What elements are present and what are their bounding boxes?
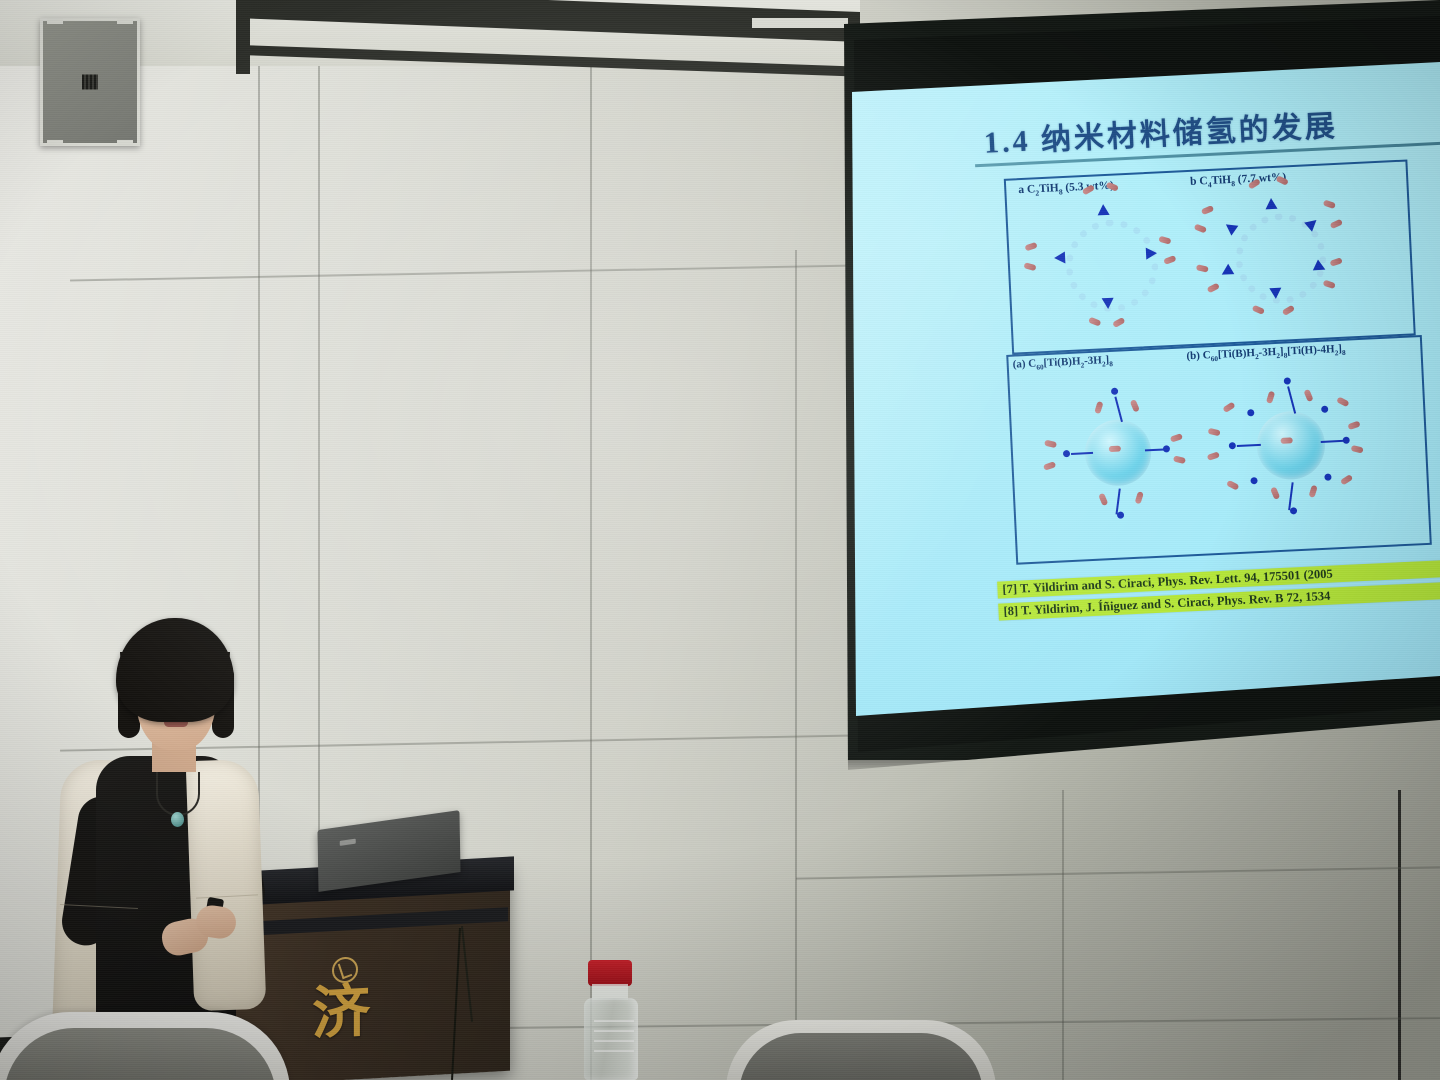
wall-speaker — [40, 18, 140, 146]
speaker-bracket — [117, 140, 133, 146]
lectern-institution-text: 济 — [312, 983, 372, 1042]
speaker-bracket — [47, 18, 63, 24]
laptop-logo-icon — [340, 839, 356, 846]
molecule-c60-b — [1215, 364, 1362, 529]
pendant — [171, 812, 184, 827]
lecture-photo-scene: 1.4 纳米材料储氢的发展 a C2TiH8 (5.3 wt%) b C4TiH… — [0, 0, 1440, 1080]
presenter — [20, 606, 290, 1080]
wall-seam — [1062, 790, 1064, 1080]
projection-screen: 1.4 纳米材料储氢的发展 a C2TiH8 (5.3 wt%) b C4TiH… — [818, 0, 1440, 770]
speaker-bracket — [117, 18, 133, 24]
wall-seam — [1398, 790, 1401, 1080]
necklace — [156, 772, 200, 816]
molecule-c60-a — [1054, 377, 1181, 533]
projected-slide: 1.4 纳米材料储氢的发展 a C2TiH8 (5.3 wt%) b C4TiH… — [818, 0, 1440, 760]
auditorium-chair-right — [726, 1020, 996, 1080]
water-bottle — [580, 960, 642, 1080]
auditorium-chair-left — [0, 1012, 290, 1080]
chair-seat-back — [4, 1028, 276, 1080]
wall-seam — [590, 30, 592, 1080]
slide-content: 1.4 纳米材料储氢的发展 a C2TiH8 (5.3 wt%) b C4TiH… — [852, 33, 1440, 721]
ceiling-beam — [236, 14, 250, 74]
molecule-c4tih8 — [1207, 185, 1343, 317]
speaker-grille-icon — [82, 75, 98, 90]
chair-seat-back — [739, 1033, 983, 1080]
molecule-c2tih8 — [1049, 199, 1164, 314]
bottle-cap — [588, 960, 632, 986]
speaker-bracket — [47, 140, 63, 146]
wall-seam — [795, 250, 797, 1080]
bottle-body — [584, 998, 638, 1080]
